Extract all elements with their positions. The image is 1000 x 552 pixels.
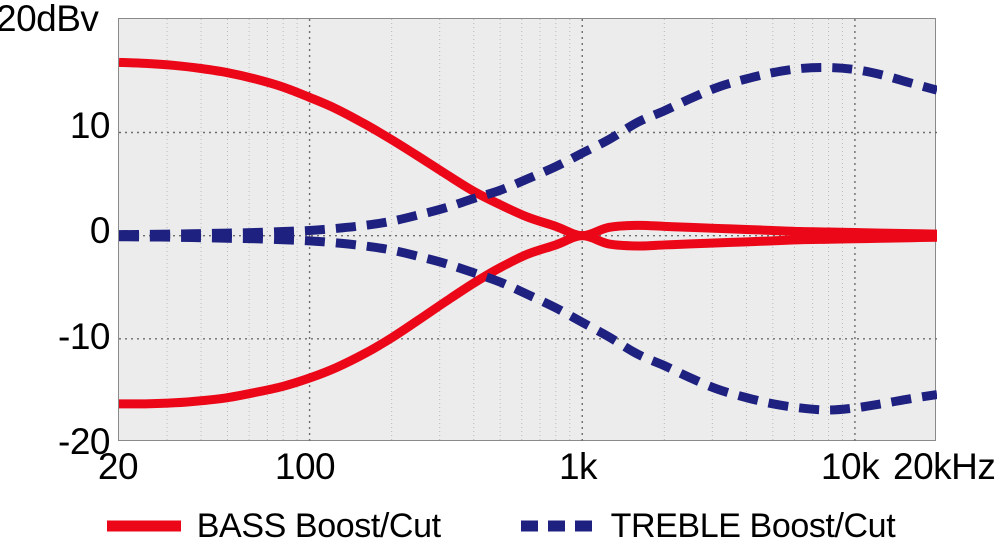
legend-swatch-bass-solid-line	[105, 519, 183, 533]
series-treble-boost	[119, 67, 937, 234]
series-bass-boost	[119, 62, 937, 235]
legend-label-bass: BASS Boost/Cut	[197, 509, 441, 543]
x-tick-label-1k: 1k	[528, 448, 628, 485]
legend-label-treble: TREBLE Boost/Cut	[611, 509, 896, 543]
chart-legend: BASS Boost/Cut TREBLE Boost/Cut	[0, 500, 1000, 552]
x-tick-label-20kHz: 20kHz	[893, 448, 1000, 485]
legend-item-bass: BASS Boost/Cut	[105, 509, 441, 543]
plot-area	[118, 18, 936, 441]
chart-root: 20dBv 10 0 -10 -20 20 100 1k 10k 20kHz B…	[0, 0, 1000, 552]
series-bass-cut	[119, 236, 937, 404]
legend-swatch-treble-dashed-line	[519, 519, 597, 533]
x-tick-label-10k: 10k	[800, 448, 900, 485]
x-tick-label-20: 20	[68, 448, 168, 485]
y-tick-label-10: 10	[0, 107, 110, 144]
plot-canvas	[119, 19, 937, 442]
x-tick-label-100: 100	[255, 448, 355, 485]
series-treble-cut	[119, 237, 937, 410]
y-tick-label-20: 20dBv	[0, 0, 114, 37]
y-tick-label-minus10: -10	[0, 318, 110, 355]
y-tick-label-0: 0	[0, 212, 110, 249]
legend-item-treble: TREBLE Boost/Cut	[519, 509, 896, 543]
